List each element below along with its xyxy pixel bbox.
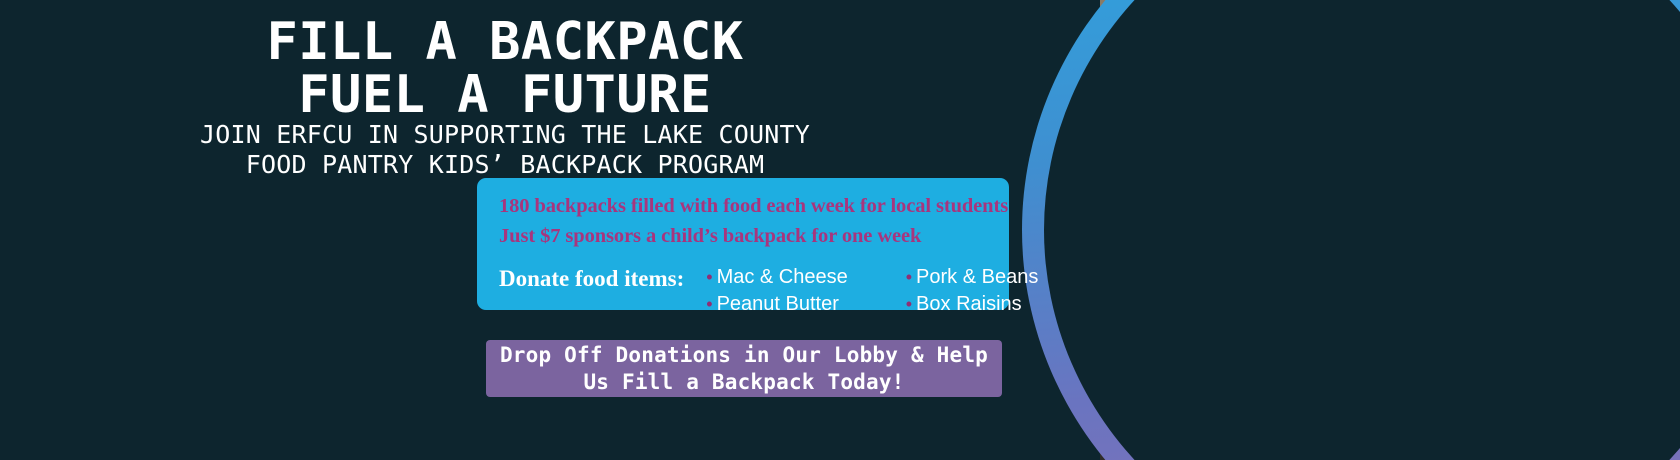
- cta-line-1: Drop Off Donations in Our Lobby & Help: [500, 342, 988, 369]
- students-photo: [1100, 0, 1680, 460]
- food-item-label: Peanut Butter: [717, 293, 839, 315]
- info-box: 180 backpacks filled with food each week…: [477, 178, 1009, 310]
- cta-line-2: Us Fill a Backpack Today!: [500, 369, 988, 396]
- page-title: FILL A BACKPACK FUEL A FUTURE: [0, 16, 1010, 122]
- headline-line-1: FILL A BACKPACK: [266, 12, 743, 72]
- donate-label: Donate food items:: [499, 264, 684, 292]
- photo-vignette: [1100, 0, 1680, 460]
- donate-row: Donate food items: •Mac & Cheese •Peanut…: [499, 264, 1009, 317]
- stat-line-2: Just $7 sponsors a child’s backpack for …: [499, 222, 1009, 252]
- bullet-icon: •: [906, 267, 912, 287]
- headline-line-2: FUEL A FUTURE: [0, 69, 1010, 122]
- food-column-1: •Mac & Cheese •Peanut Butter: [706, 264, 847, 317]
- food-item: •Peanut Butter: [706, 291, 847, 317]
- subheading-line-1: JOIN ERFCU IN SUPPORTING THE LAKE COUNTY: [0, 120, 1010, 150]
- food-item: •Box Raisins: [906, 291, 1039, 317]
- subheading: JOIN ERFCU IN SUPPORTING THE LAKE COUNTY…: [0, 120, 1010, 179]
- food-item-label: Mac & Cheese: [717, 266, 848, 288]
- food-item: •Pork & Beans: [906, 264, 1039, 290]
- food-item-label: Box Raisins: [916, 293, 1022, 315]
- food-item-label: Pork & Beans: [916, 266, 1038, 288]
- bullet-icon: •: [906, 294, 912, 314]
- subheading-line-2: FOOD PANTRY KIDS’ BACKPACK PROGRAM: [0, 150, 1010, 180]
- bullet-icon: •: [706, 267, 712, 287]
- cta-button[interactable]: Drop Off Donations in Our Lobby & Help U…: [486, 340, 1002, 397]
- food-item: •Mac & Cheese: [706, 264, 847, 290]
- food-items-list: •Mac & Cheese •Peanut Butter •Pork & Bea…: [706, 264, 1066, 317]
- promo-banner: FILL A BACKPACK FUEL A FUTURE JOIN ERFCU…: [0, 0, 1680, 460]
- food-column-2: •Pork & Beans •Box Raisins: [906, 264, 1039, 317]
- stat-line-1: 180 backpacks filled with food each week…: [499, 192, 1009, 222]
- banner-content: FILL A BACKPACK FUEL A FUTURE JOIN ERFCU…: [0, 0, 1022, 460]
- bullet-icon: •: [706, 294, 712, 314]
